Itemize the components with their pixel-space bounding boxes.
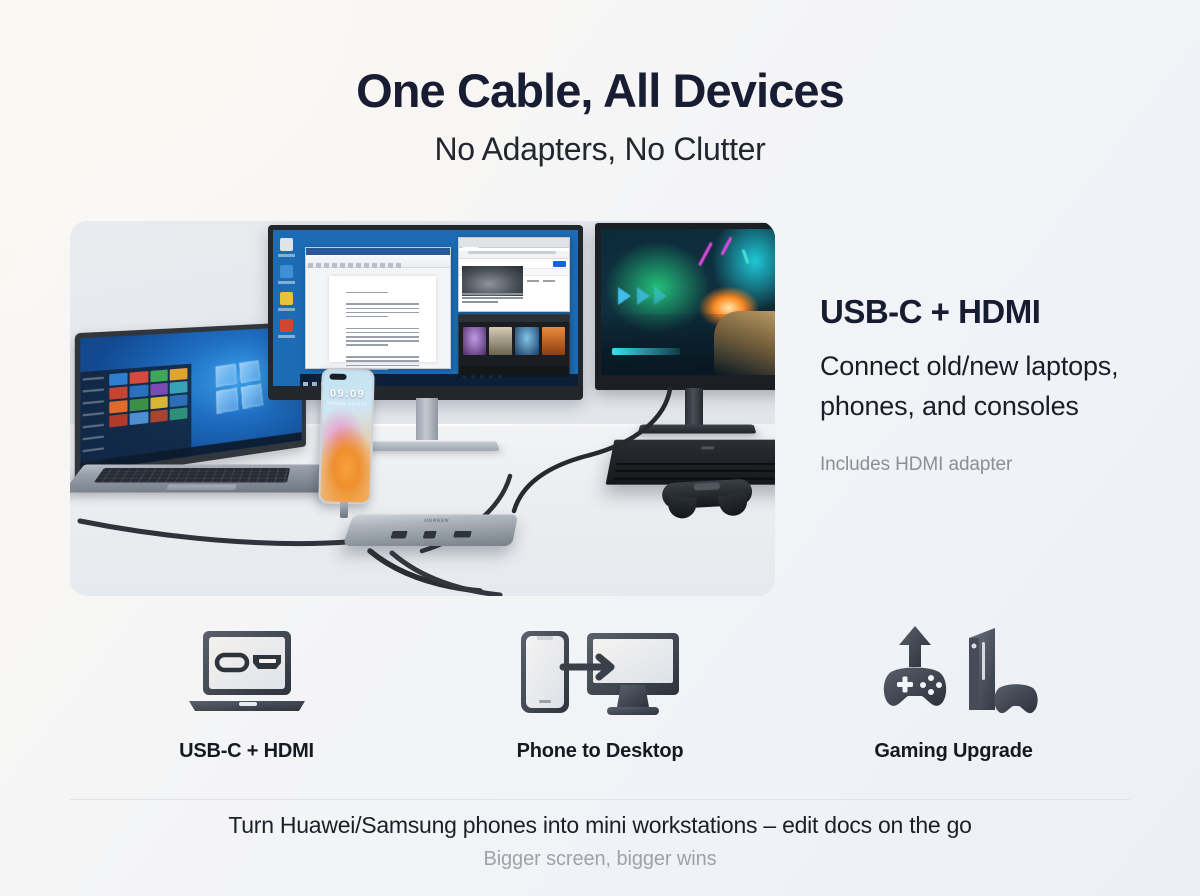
hub-brand-label: UGREEN bbox=[423, 518, 449, 523]
phone-usbc-cable bbox=[340, 502, 348, 518]
hub-port-hdmi bbox=[453, 531, 472, 538]
browser-tabstrip bbox=[459, 238, 570, 248]
windows-logo-icon bbox=[216, 360, 266, 416]
media-player-window bbox=[458, 314, 571, 378]
hero-product-photo: 09:09 Monday, April 12 bbox=[70, 221, 775, 596]
phone-clock: 09:09 bbox=[323, 387, 372, 400]
browser-addressbar bbox=[459, 251, 570, 259]
footer: Turn Huawei/Samsung phones into mini wor… bbox=[0, 812, 1200, 871]
game-hud-bar bbox=[612, 348, 680, 355]
feature-row: USB-C + HDMI bbox=[70, 618, 1130, 763]
game-screen bbox=[601, 229, 775, 375]
header: One Cable, All Devices No Adapters, No C… bbox=[0, 0, 1200, 168]
desktop-icon-column bbox=[273, 230, 300, 386]
primary-monitor bbox=[268, 225, 583, 470]
word-ribbon bbox=[306, 255, 450, 268]
word-page bbox=[329, 276, 436, 362]
primary-monitor-screen bbox=[273, 230, 578, 386]
keyboard bbox=[94, 468, 290, 482]
primary-monitor-stand-base bbox=[361, 441, 500, 451]
browser-window bbox=[458, 237, 571, 312]
phone-to-monitor-icon bbox=[424, 618, 777, 726]
controller-touchpad bbox=[694, 482, 720, 490]
secondary-monitor-bezel bbox=[595, 223, 775, 390]
secondary-monitor-stand-neck bbox=[685, 388, 703, 426]
infographic-page: One Cable, All Devices No Adapters, No C… bbox=[0, 0, 1200, 896]
feature-gaming-upgrade: Gaming Upgrade bbox=[777, 618, 1130, 763]
word-window bbox=[305, 247, 451, 369]
smartphone-device: 09:09 Monday, April 12 bbox=[318, 368, 375, 504]
video-caption bbox=[462, 293, 523, 306]
side-panel-note: Includes HDMI adapter bbox=[820, 454, 1160, 476]
start-menu-rail bbox=[83, 376, 104, 467]
media-player-titlebar bbox=[459, 315, 570, 322]
side-info-panel: USB-C + HDMI Connect old/new laptops, ph… bbox=[820, 294, 1160, 476]
primary-monitor-bezel bbox=[268, 225, 583, 400]
feature-phone-to-desktop: Phone to Desktop bbox=[424, 618, 777, 763]
footer-line-2: Bigger screen, bigger wins bbox=[0, 848, 1200, 871]
secondary-monitor-stand-base bbox=[638, 425, 757, 434]
video-thumbnail bbox=[462, 266, 523, 295]
neon-light bbox=[698, 241, 713, 265]
laptop-ports-icon bbox=[70, 618, 423, 726]
side-panel-body: Connect old/new laptops, phones, and con… bbox=[820, 347, 1160, 427]
hub-port-usba bbox=[423, 531, 437, 538]
primary-monitor-stand-neck bbox=[416, 398, 438, 440]
page-title: One Cable, All Devices bbox=[0, 66, 1200, 116]
feature-label: USB-C + HDMI bbox=[70, 740, 423, 763]
page-subtitle: No Adapters, No Clutter bbox=[0, 131, 1200, 168]
game-chevron-icon bbox=[654, 287, 667, 305]
hub-port-usbc bbox=[391, 531, 408, 538]
feature-label: Phone to Desktop bbox=[424, 740, 777, 763]
gamepad-console-icon bbox=[777, 618, 1130, 726]
feature-label: Gaming Upgrade bbox=[777, 740, 1130, 763]
start-menu-tiles bbox=[109, 368, 188, 427]
usbc-hub-device: UGREEN bbox=[343, 514, 519, 546]
neon-light bbox=[741, 249, 749, 264]
phone-date: Monday, April 12 bbox=[323, 400, 372, 406]
feature-usbc-hdmi: USB-C + HDMI bbox=[70, 618, 423, 763]
game-controller bbox=[661, 471, 753, 512]
footer-line-1: Turn Huawei/Samsung phones into mini wor… bbox=[0, 812, 1200, 839]
side-panel-heading: USB-C + HDMI bbox=[820, 294, 1160, 330]
media-thumbnail-row bbox=[459, 322, 570, 360]
game-chevron-icon bbox=[618, 287, 631, 305]
footer-divider bbox=[70, 799, 1130, 800]
word-titlebar bbox=[306, 248, 450, 255]
phone-screen: 09:09 Monday, April 12 bbox=[320, 370, 372, 502]
game-chevron-icon bbox=[637, 287, 650, 305]
game-player-arm bbox=[714, 311, 775, 375]
phone-camera-notch bbox=[329, 374, 346, 380]
trackpad bbox=[166, 484, 237, 490]
neon-light bbox=[721, 237, 733, 256]
